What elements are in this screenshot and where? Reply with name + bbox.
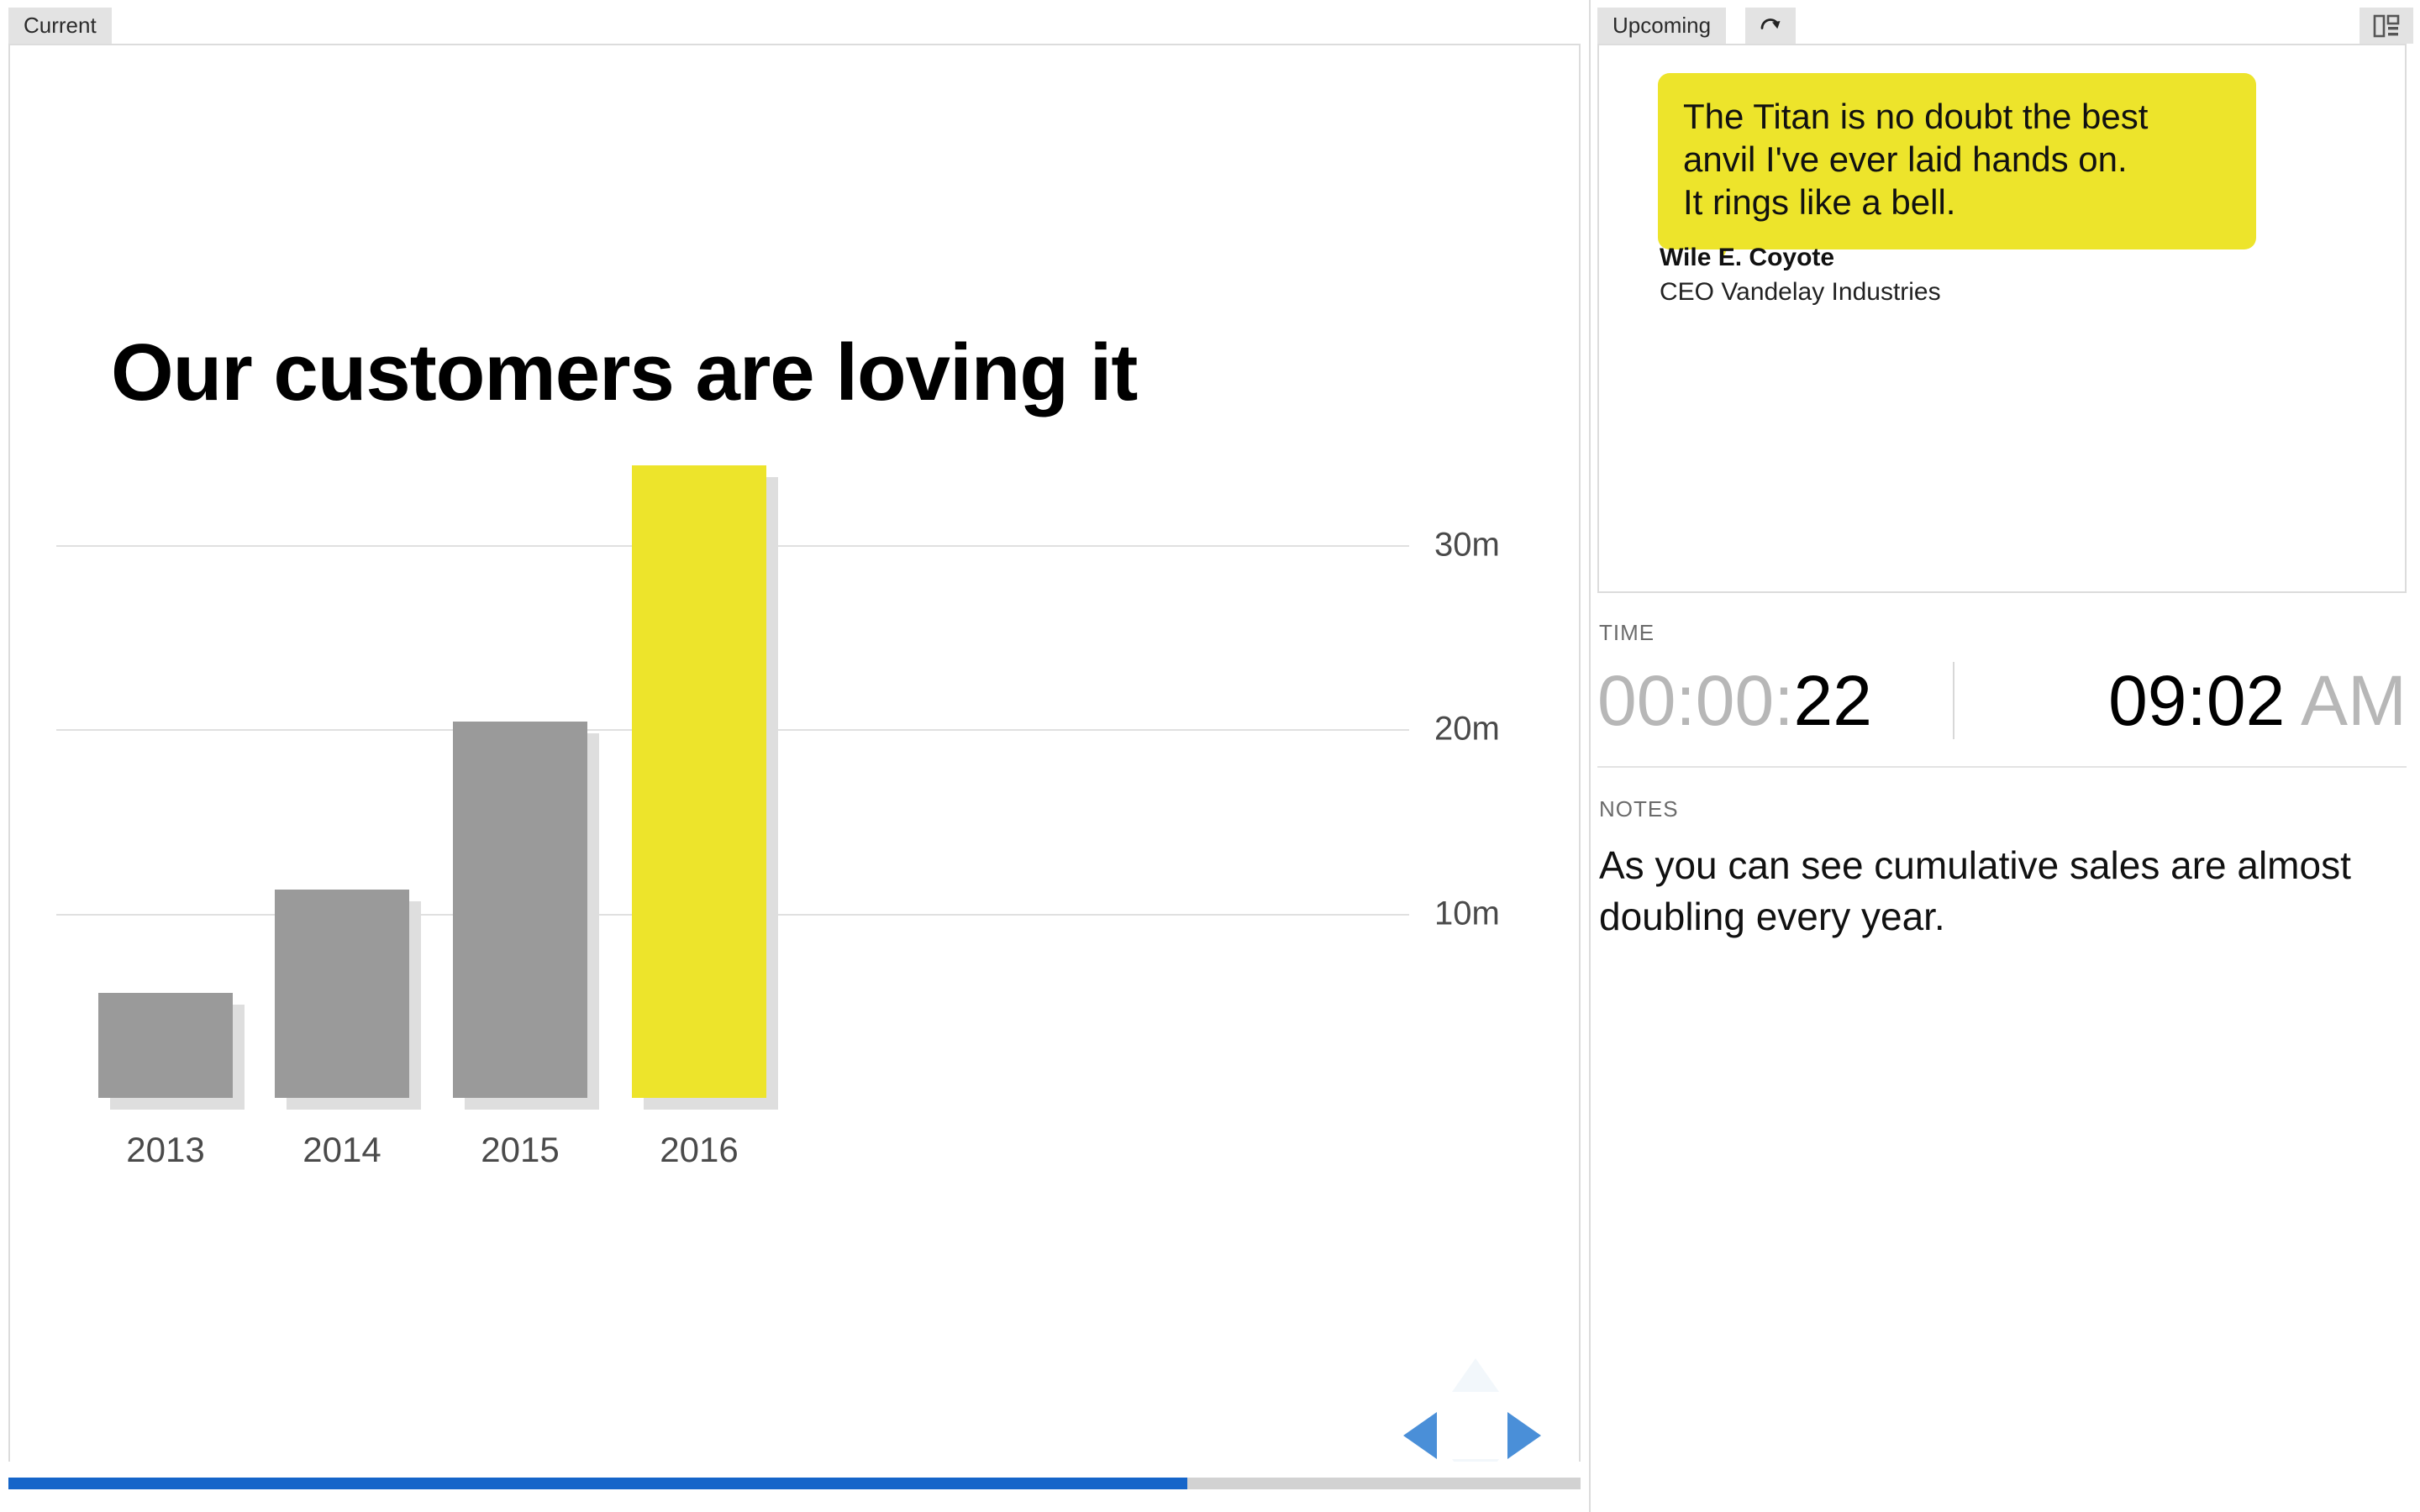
wall-clock-meridiem: AM bbox=[2285, 661, 2407, 740]
quote-bubble: The Titan is no doubt the best anvil I'v… bbox=[1658, 73, 2256, 249]
chart-ytick-label: 30m bbox=[1434, 526, 1500, 564]
arrow-left-icon[interactable] bbox=[1403, 1412, 1437, 1459]
elapsed-timer-dim: 00:00: bbox=[1597, 661, 1794, 740]
slide-progress-bar[interactable] bbox=[8, 1478, 1581, 1489]
layout-toggle-icon-button[interactable] bbox=[2359, 8, 2413, 44]
wall-clock: 09:02 AM bbox=[2013, 665, 2407, 736]
bar-chart: 30m20m10m2013201420152016 bbox=[10, 45, 1579, 1462]
right-tabbar: Upcoming bbox=[1591, 0, 2420, 44]
arrow-right-icon[interactable] bbox=[1507, 1412, 1541, 1459]
quote-author-role: CEO Vandelay Industries bbox=[1660, 278, 1941, 307]
rotate-redo-icon bbox=[1758, 13, 1783, 39]
left-tabbar: Current bbox=[0, 0, 1589, 44]
chart-bar bbox=[453, 722, 587, 1098]
notes-divider bbox=[1597, 766, 2407, 768]
time-section-label: TIME bbox=[1599, 620, 1655, 646]
upcoming-slide-preview[interactable]: The Titan is no doubt the best anvil I'v… bbox=[1597, 44, 2407, 593]
chart-bar bbox=[98, 993, 233, 1098]
presenter-view: Current Our customers are loving it 30m2… bbox=[0, 0, 2420, 1512]
layout-toggle-icon bbox=[2373, 14, 2400, 38]
time-divider bbox=[1953, 662, 1954, 739]
chart-bar bbox=[275, 890, 409, 1098]
arrow-down-icon[interactable] bbox=[1452, 1459, 1499, 1462]
quote-author-name: Wile E. Coyote bbox=[1660, 244, 1834, 272]
time-row: 00:00:22 09:02 AM bbox=[1597, 654, 2407, 748]
current-slide-panel: Current Our customers are loving it 30m2… bbox=[0, 0, 1589, 1512]
chart-ytick-label: 10m bbox=[1434, 895, 1500, 932]
chart-bar bbox=[632, 465, 766, 1098]
current-slide-frame: Our customers are loving it 30m20m10m201… bbox=[8, 44, 1581, 1462]
arrow-up-icon[interactable] bbox=[1452, 1358, 1499, 1392]
chart-ytick-label: 20m bbox=[1434, 711, 1500, 748]
elapsed-timer-seconds: 22 bbox=[1794, 661, 1872, 740]
presenter-notes-panel: Upcoming The Titan is no doubt the best … bbox=[1589, 0, 2420, 1512]
elapsed-timer[interactable]: 00:00:22 bbox=[1597, 665, 1872, 736]
quote-text: The Titan is no doubt the best anvil I'v… bbox=[1683, 95, 2231, 224]
wall-clock-time: 09:02 bbox=[2108, 661, 2285, 740]
chart-xtick-label: 2016 bbox=[581, 1130, 817, 1170]
rotate-redo-icon-button[interactable] bbox=[1745, 8, 1796, 44]
notes-section-label: NOTES bbox=[1599, 796, 1679, 822]
tab-current[interactable]: Current bbox=[8, 8, 112, 44]
slide-progress-fill bbox=[8, 1478, 1187, 1489]
notes-body[interactable]: As you can see cumulative sales are almo… bbox=[1599, 840, 2389, 942]
tab-upcoming[interactable]: Upcoming bbox=[1597, 8, 1726, 44]
slide-navigation-pad bbox=[1397, 1352, 1581, 1462]
